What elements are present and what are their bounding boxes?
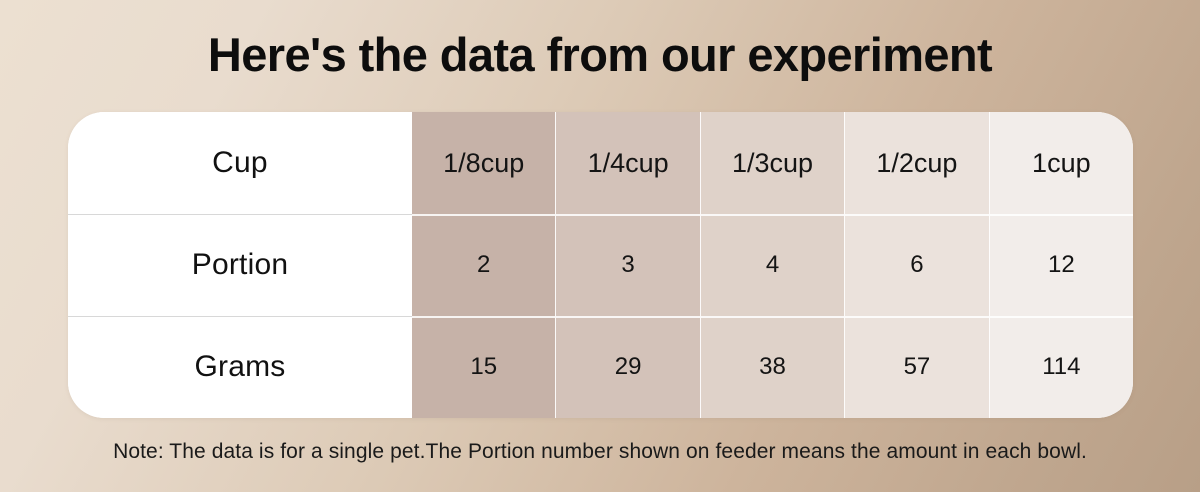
table-row: Grams 15 29 38 57 114	[68, 316, 1133, 418]
header-cell-one-cup: 1cup	[990, 112, 1133, 214]
portion-value-one-cup: 12	[990, 214, 1133, 316]
portion-value-quarter-cup: 3	[556, 214, 700, 316]
header-cell-half-cup: 1/2cup	[845, 112, 989, 214]
portion-value-third-cup: 4	[701, 214, 845, 316]
header-cell-quarter-cup: 1/4cup	[556, 112, 700, 214]
row-header-portion: Portion	[68, 214, 412, 316]
table-row: Cup 1/8cup 1/4cup 1/3cup 1/2cup 1cup	[68, 112, 1133, 214]
page-title: Here's the data from our experiment	[0, 28, 1200, 82]
row-header-grams: Grams	[68, 316, 412, 418]
grams-value-half-cup: 57	[845, 316, 989, 418]
grams-value-one-cup: 114	[990, 316, 1133, 418]
header-cell-third-cup: 1/3cup	[701, 112, 845, 214]
grams-value-eighth-cup: 15	[412, 316, 556, 418]
header-cell-eighth-cup: 1/8cup	[412, 112, 556, 214]
table-row: Portion 2 3 4 6 12	[68, 214, 1133, 316]
footnote: Note: The data is for a single pet.The P…	[0, 440, 1200, 464]
slide-canvas: Here's the data from our experiment Cup …	[0, 0, 1200, 492]
row-header-cup: Cup	[68, 112, 412, 214]
portion-value-eighth-cup: 2	[412, 214, 556, 316]
grams-value-third-cup: 38	[701, 316, 845, 418]
data-table: Cup 1/8cup 1/4cup 1/3cup 1/2cup 1cup Por…	[68, 112, 1133, 418]
grams-value-quarter-cup: 29	[556, 316, 700, 418]
portion-value-half-cup: 6	[845, 214, 989, 316]
